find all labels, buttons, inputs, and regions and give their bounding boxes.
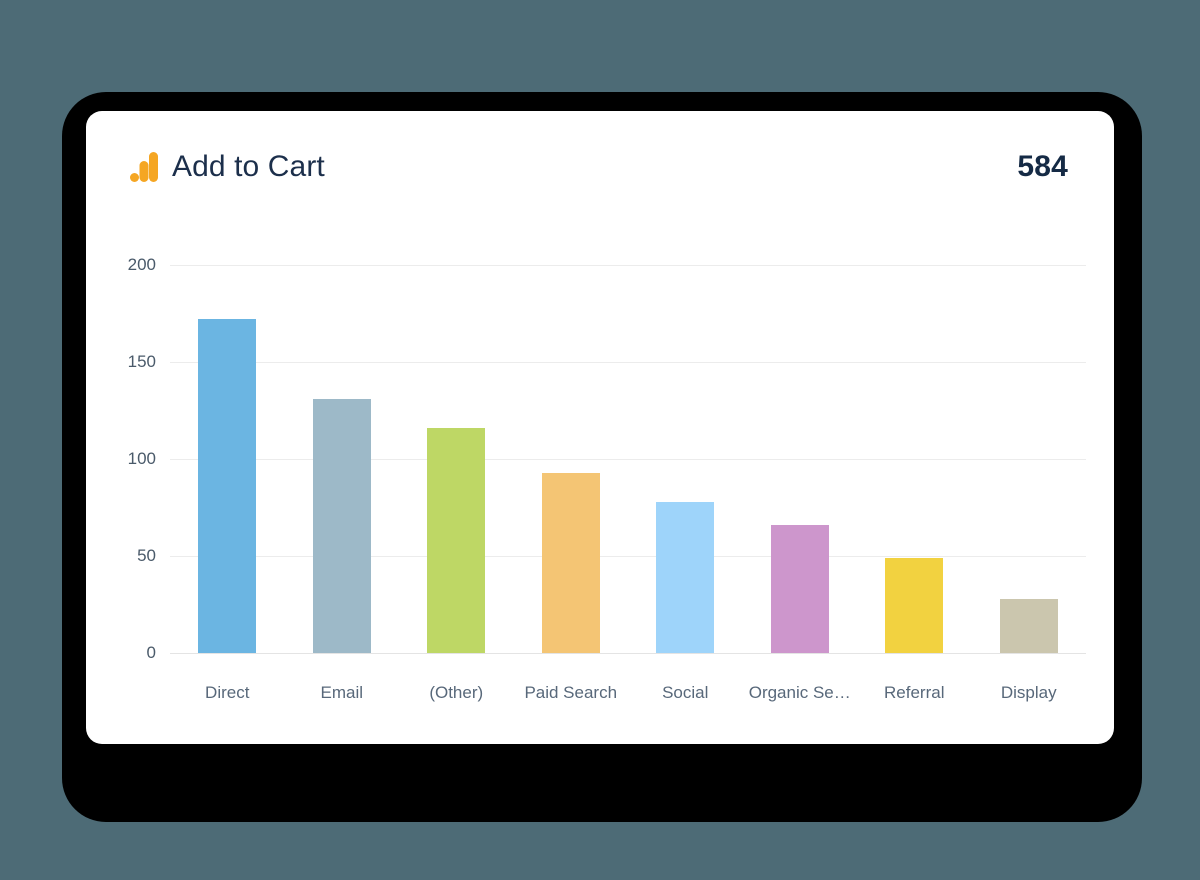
bar-slot [514,265,629,653]
card-title-group: Add to Cart [130,152,325,182]
x-axis-label: Paid Search [514,683,629,703]
x-axis-labels: DirectEmail(Other)Paid SearchSocialOrgan… [170,683,1086,703]
y-axis-tick: 0 [147,643,156,663]
x-axis-label: Organic Se… [743,683,858,703]
plot-area: 050100150200 [170,265,1086,653]
x-axis-label: Social [628,683,743,703]
bar[interactable] [885,558,943,653]
bar-slot [285,265,400,653]
bar[interactable] [198,319,256,653]
bar[interactable] [771,525,829,653]
gridline: 0 [170,653,1086,654]
y-axis-tick: 200 [128,255,156,275]
bar-slot [170,265,285,653]
bar-chart: 050100150200 DirectEmail(Other)Paid Sear… [86,223,1114,744]
page-title: Add to Cart [172,152,325,182]
y-axis-tick: 50 [137,546,156,566]
bar[interactable] [427,428,485,653]
x-axis-label: Referral [857,683,972,703]
analytics-card: Add to Cart 584 050100150200 DirectEmail… [86,111,1114,744]
screenshot-stage: Add to Cart 584 050100150200 DirectEmail… [0,0,1200,880]
card-header: Add to Cart 584 [86,111,1114,223]
x-axis-label: Direct [170,683,285,703]
bar[interactable] [656,502,714,653]
bar-series [170,265,1086,653]
x-axis-label: Display [972,683,1087,703]
x-axis-label: (Other) [399,683,514,703]
metric-total: 584 [1017,152,1068,182]
bar[interactable] [542,473,600,653]
bar-slot [399,265,514,653]
bar[interactable] [1000,599,1058,653]
bar-slot [857,265,972,653]
bar-slot [628,265,743,653]
google-analytics-icon [130,152,158,182]
y-axis-tick: 150 [128,352,156,372]
bar-slot [743,265,858,653]
y-axis-tick: 100 [128,449,156,469]
bar[interactable] [313,399,371,653]
x-axis-label: Email [285,683,400,703]
bar-slot [972,265,1087,653]
